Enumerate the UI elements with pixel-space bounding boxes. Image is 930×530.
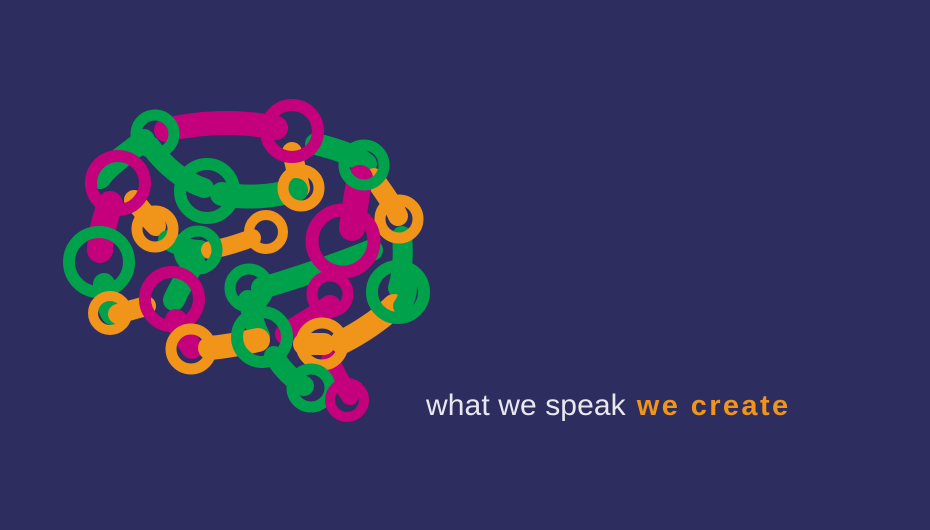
- logo-node: [312, 276, 348, 312]
- slide-canvas: .lk { fill: none; stroke-linecap: round;…: [0, 0, 930, 530]
- brain-logo-svg: .lk { fill: none; stroke-linecap: round;…: [58, 98, 438, 420]
- tagline-light-text: what we speak: [426, 389, 626, 423]
- tagline-accent-text: we create: [637, 390, 791, 423]
- tagline: what we speak we create: [426, 389, 791, 423]
- logo-nodes: [69, 105, 424, 417]
- brain-network-logo: .lk { fill: none; stroke-linecap: round;…: [58, 98, 438, 420]
